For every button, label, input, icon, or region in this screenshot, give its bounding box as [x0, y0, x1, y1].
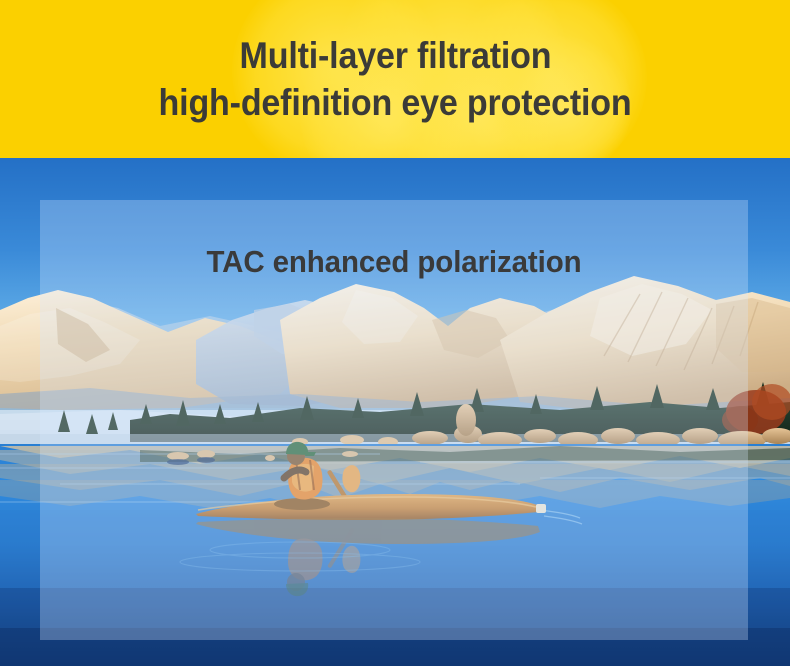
scene-illustration	[0, 158, 790, 666]
lake-scene-photo	[0, 158, 790, 666]
headline-banner: Multi-layer filtration high-definition e…	[0, 0, 790, 158]
headline-line-2: high-definition eye protection	[159, 79, 632, 126]
headline-line-1: Multi-layer filtration	[239, 32, 551, 79]
headline-text-block: Multi-layer filtration high-definition e…	[0, 0, 790, 158]
product-banner-page: Multi-layer filtration high-definition e…	[0, 0, 790, 666]
overlay-caption: TAC enhanced polarization	[58, 242, 731, 282]
